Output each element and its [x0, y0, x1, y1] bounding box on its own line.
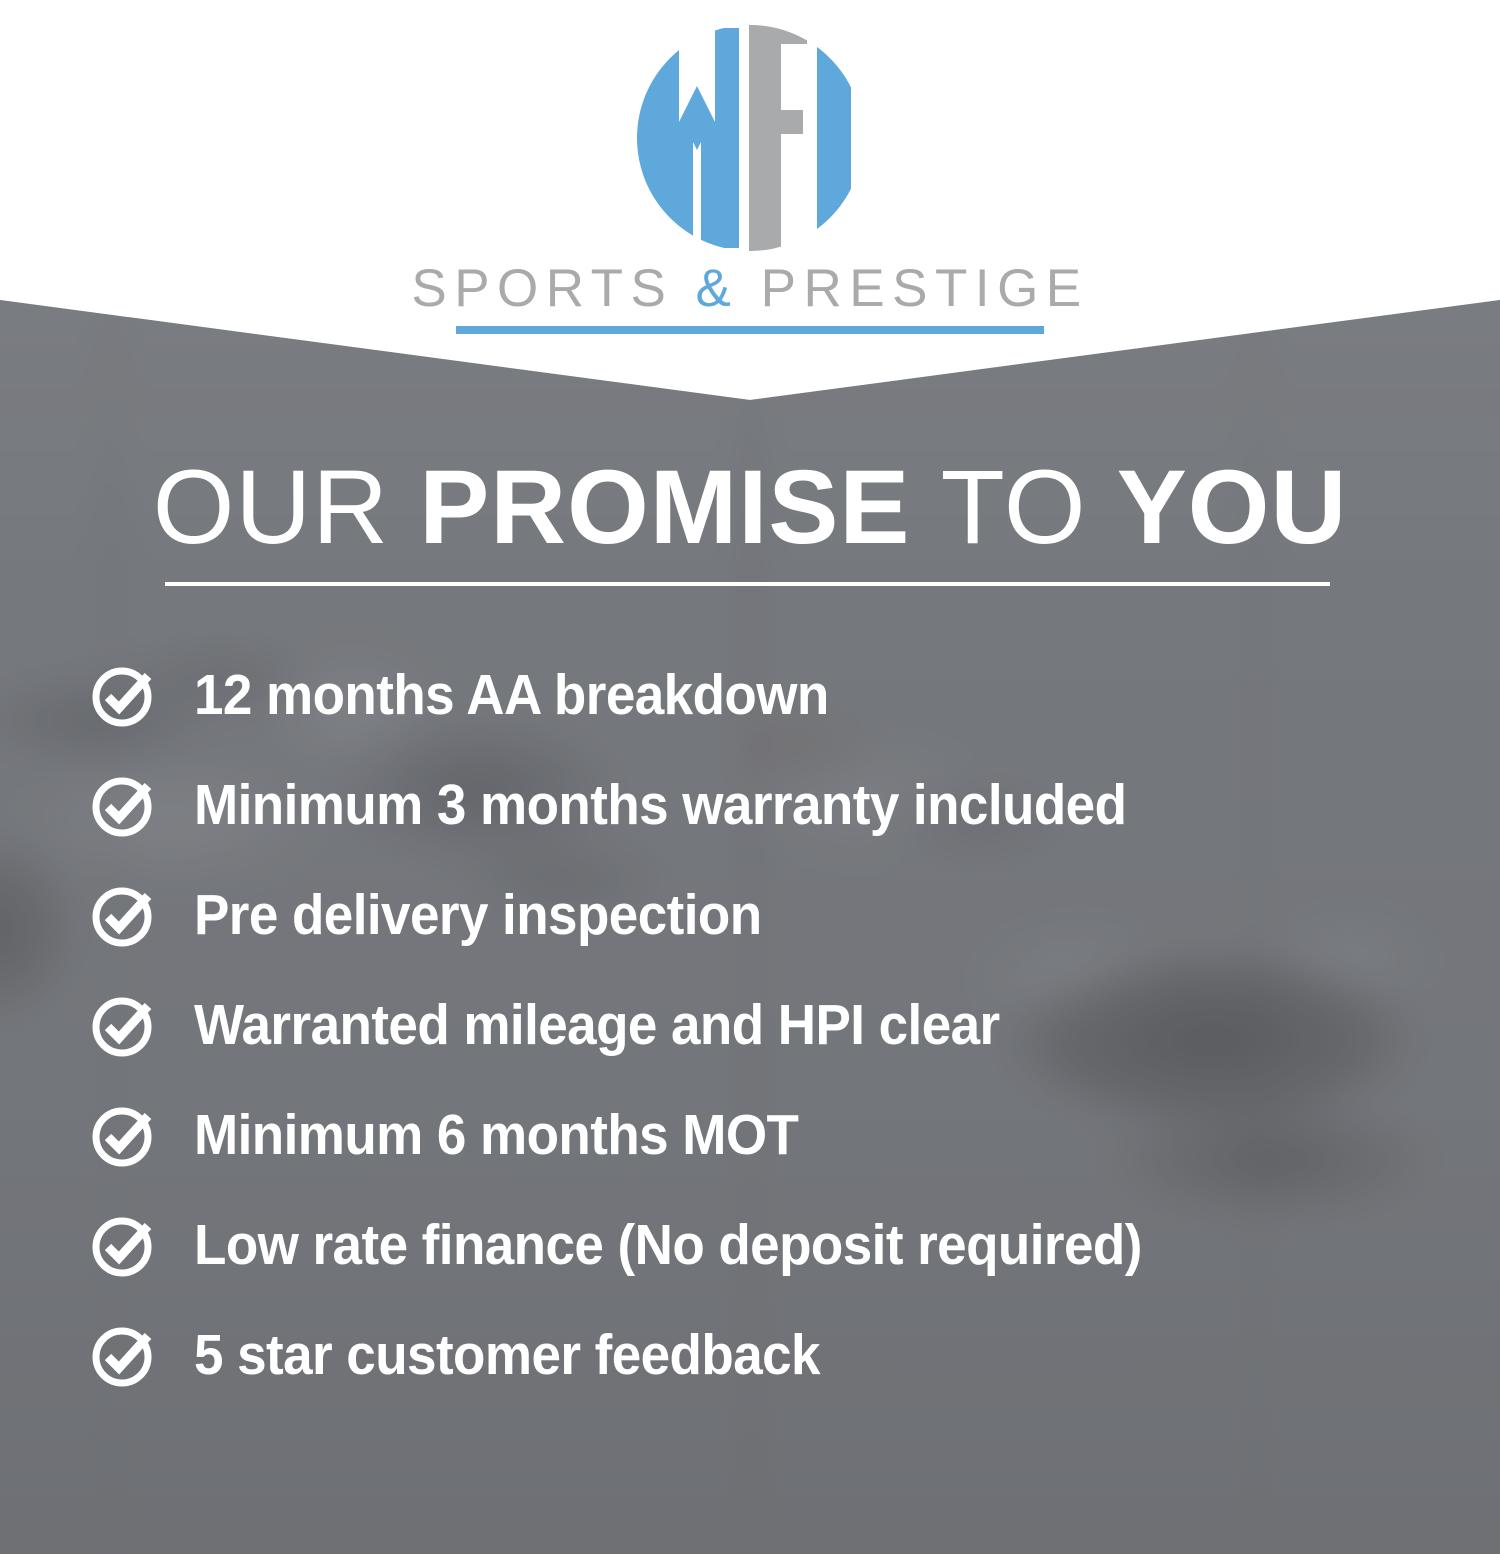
list-item: 12 months AA breakdown — [88, 640, 1448, 750]
wordmark-text: SPORTS & PRESTIGE — [411, 262, 1088, 315]
brand-logo-block: SPORTS & PRESTIGE — [0, 22, 1500, 334]
title-word-our: OUR — [153, 449, 389, 566]
title-word-promise: PROMISE — [419, 449, 910, 566]
list-item: Minimum 3 months warranty included — [88, 750, 1448, 860]
mfl-monogram-icon — [635, 22, 865, 254]
list-item-label: Low rate finance (No deposit required) — [194, 1217, 1142, 1274]
check-circle-icon — [88, 1099, 160, 1171]
list-item: Low rate finance (No deposit required) — [88, 1190, 1448, 1300]
check-circle-icon — [88, 1319, 160, 1391]
list-item: Warranted mileage and HPI clear — [88, 970, 1448, 1080]
promise-graphic-page: SPORTS & PRESTIGE OUR PROMISE TO YOU 12 … — [0, 0, 1500, 1554]
wordmark-underline — [456, 326, 1044, 334]
title-word-to: TO — [941, 449, 1087, 566]
wordmark-block: SPORTS & PRESTIGE — [411, 262, 1088, 334]
list-item: Pre delivery inspection — [88, 860, 1448, 970]
list-item-label: Minimum 6 months MOT — [194, 1107, 798, 1164]
promise-list: 12 months AA breakdown Minimum 3 months … — [88, 640, 1448, 1410]
list-item-label: Warranted mileage and HPI clear — [194, 997, 1000, 1054]
list-item-label: 5 star customer feedback — [194, 1327, 820, 1384]
title-word-you: YOU — [1117, 449, 1348, 566]
title-divider — [165, 582, 1330, 586]
list-item: 5 star customer feedback — [88, 1300, 1448, 1410]
wordmark-prestige: PRESTIGE — [761, 259, 1089, 318]
list-item-label: Minimum 3 months warranty included — [194, 777, 1126, 834]
check-circle-icon — [88, 1209, 160, 1281]
list-item: Minimum 6 months MOT — [88, 1080, 1448, 1190]
page-title: OUR PROMISE TO YOU — [0, 455, 1500, 560]
wordmark-sports: SPORTS — [411, 259, 673, 318]
check-circle-icon — [88, 659, 160, 731]
check-circle-icon — [88, 769, 160, 841]
check-circle-icon — [88, 989, 160, 1061]
check-circle-icon — [88, 879, 160, 951]
wordmark-ampersand: & — [696, 259, 739, 318]
list-item-label: Pre delivery inspection — [194, 887, 762, 944]
list-item-label: 12 months AA breakdown — [194, 667, 829, 724]
